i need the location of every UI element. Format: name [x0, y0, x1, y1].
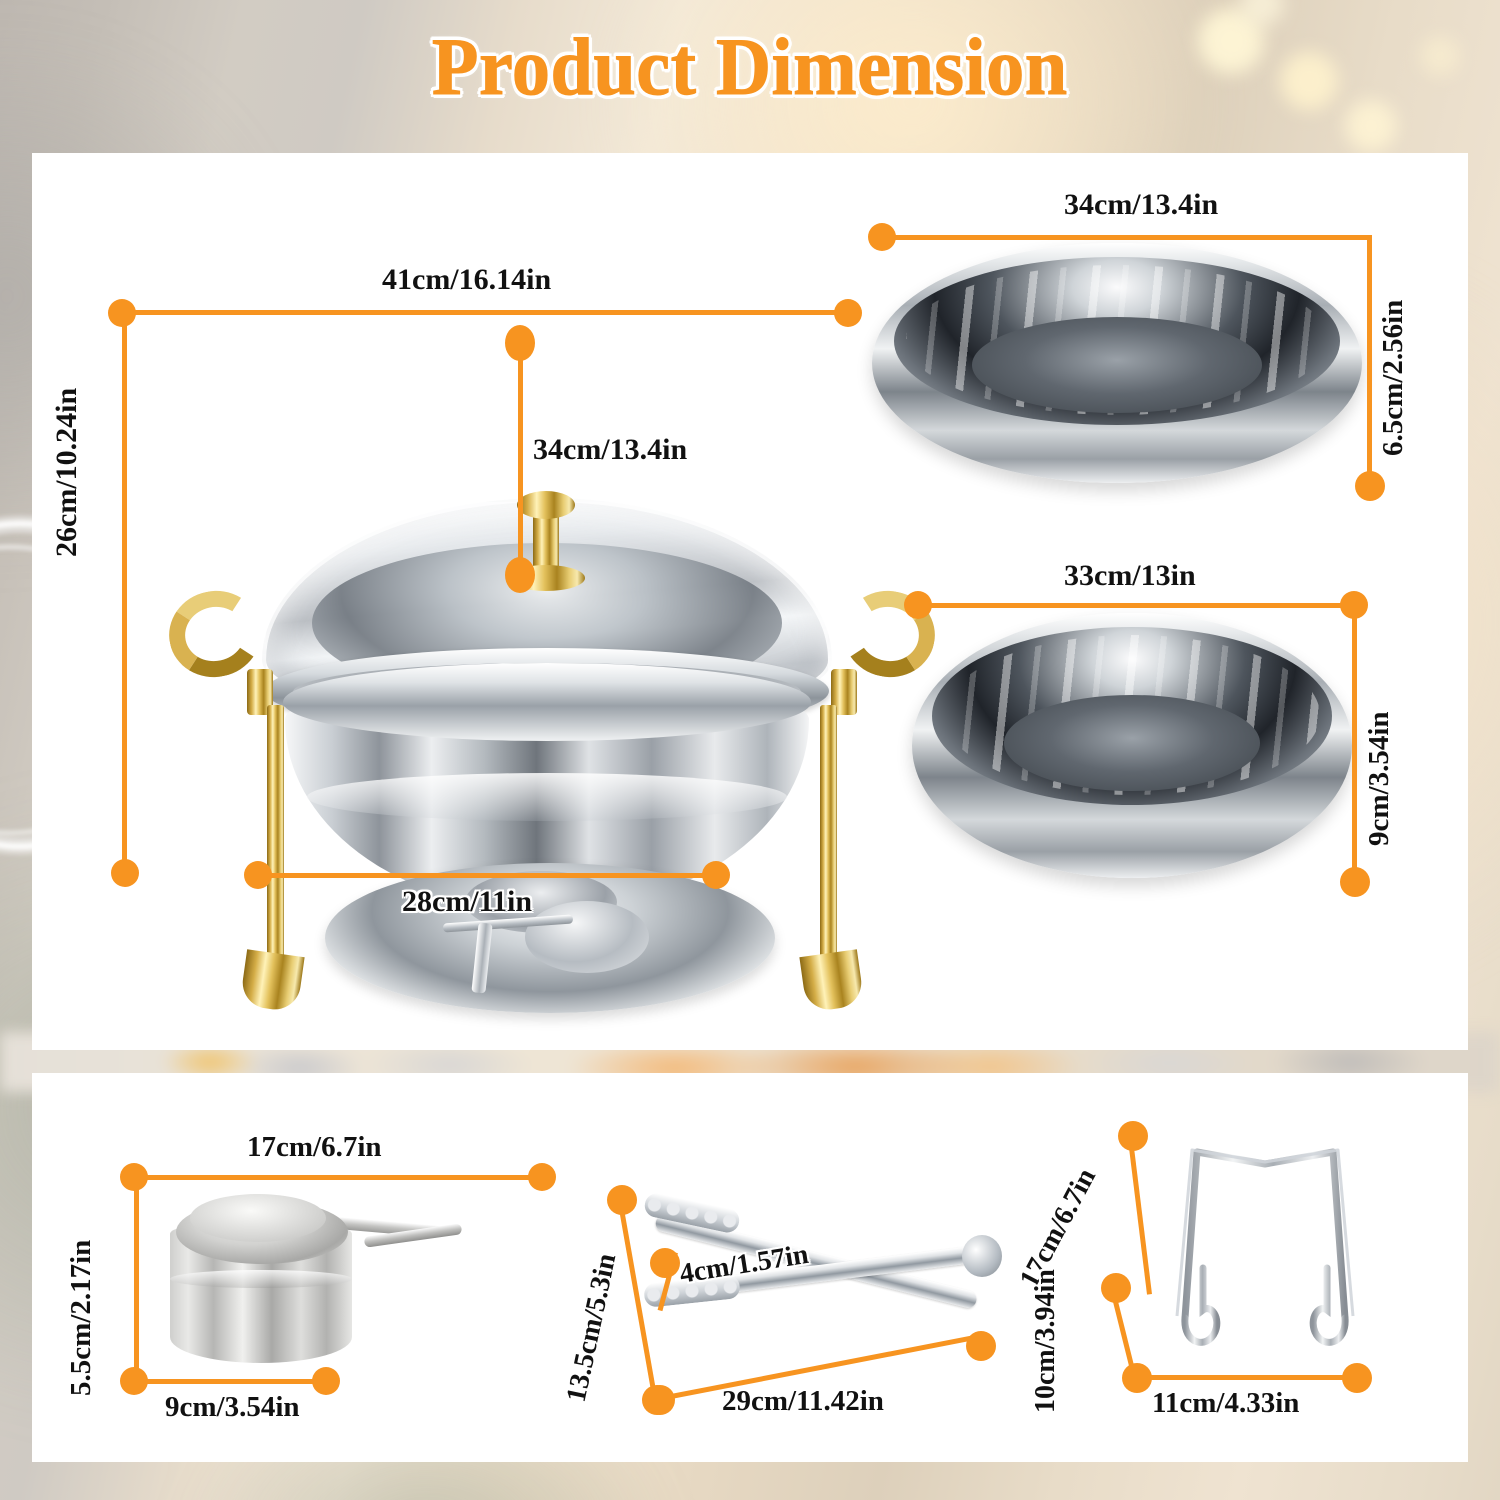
bowl-floor — [1004, 695, 1260, 791]
dim-line-chafer-width — [118, 310, 848, 315]
fuel-holder-lid-top — [190, 1194, 326, 1242]
dim-dot-chafer-height-bottom — [111, 859, 139, 887]
dim-line-large-pan-depth — [1367, 235, 1372, 485]
food-pan-rim — [283, 663, 811, 741]
food-pan-highlight-band — [307, 773, 787, 821]
dim-label-chafer-pan: 34cm/13.4in — [533, 433, 687, 467]
dim-line-fuel-diameter — [132, 1379, 324, 1384]
dim-dot-fuel-width-right — [528, 1163, 556, 1191]
dim-label-water-pan-depth: 9cm/3.54in — [1363, 711, 1396, 846]
dim-dot-water-pan-right — [1340, 591, 1368, 619]
dim-dot-large-pan-depth-bottom — [1355, 471, 1385, 501]
page-title-container: Product Dimension — [0, 14, 1500, 119]
dim-line-chafer-base — [256, 873, 716, 878]
dim-line-large-pan-diameter — [880, 235, 1370, 240]
fuel-holder-ring — [170, 1270, 352, 1288]
dim-dot-chafer-base-right — [702, 861, 730, 889]
dim-dot-wire-lower-bottom — [1122, 1363, 1152, 1393]
dim-label-large-pan-depth: 6.5cm/2.56in — [1377, 300, 1410, 456]
dim-line-chafer-height — [122, 313, 127, 873]
dim-line-chafer-pan — [518, 333, 523, 583]
dim-label-chafer-base: 28cm/11in — [402, 885, 532, 919]
wire-frame-holder-illustration — [1137, 1118, 1387, 1388]
dim-dot-chafer-pan-bottom — [505, 557, 535, 593]
dim-dot-chafer-width-left — [108, 299, 136, 327]
dim-line-wire-width — [1134, 1375, 1354, 1380]
dim-dot-water-pan-depth-bottom — [1340, 867, 1370, 897]
stand-leg-left — [267, 705, 284, 973]
dim-label-fuel-diameter: 9cm/3.54in — [165, 1391, 300, 1424]
dim-dot-tongs-opening-top — [607, 1185, 637, 1215]
dim-dot-wire-width-right — [1342, 1363, 1372, 1393]
stand-leg-right — [820, 705, 837, 973]
dim-dot-tongs-tip-top — [650, 1248, 680, 1278]
stand-foot-left — [239, 949, 304, 1013]
accessories-panel: 17cm/6.7in 5.5cm/2.17in 9cm/3.54in 13.5c… — [32, 1073, 1468, 1462]
dim-line-fuel-total-width — [132, 1175, 542, 1180]
dim-dot-chafer-pan-top — [505, 325, 535, 361]
dim-label-wire-lower: 10cm/3.94in — [1030, 1269, 1062, 1413]
dim-label-wire-width: 11cm/4.33in — [1152, 1387, 1299, 1420]
dim-label-large-pan-diameter: 34cm/13.4in — [1064, 188, 1218, 222]
water-pan-illustration — [912, 613, 1352, 878]
dim-dot-wire-mid — [1101, 1273, 1131, 1303]
page-title: Product Dimension — [432, 20, 1068, 114]
stand-foot-right — [799, 949, 864, 1013]
fuel-holder-illustration — [152, 1178, 472, 1393]
dim-line-water-pan-depth — [1352, 603, 1357, 881]
dim-dot-chafer-width-right — [834, 299, 862, 327]
dim-dot-fuel-diameter-left — [120, 1367, 148, 1395]
wire-frame-svg — [1137, 1118, 1387, 1388]
dim-dot-water-pan-left — [904, 591, 932, 619]
pan-floor — [972, 317, 1262, 413]
dim-label-tongs-opening: 13.5cm/5.3in — [561, 1251, 624, 1405]
dim-dot-wire-upper-top — [1118, 1121, 1148, 1151]
dim-dot-chafer-base-left — [244, 861, 272, 889]
dim-dot-fuel-diameter-right — [312, 1367, 340, 1395]
dim-label-fuel-height: 5.5cm/2.17in — [65, 1240, 98, 1396]
dim-label-tongs-length: 29cm/11.42in — [722, 1385, 884, 1418]
dim-label-chafer-height: 26cm/10.24in — [50, 388, 84, 557]
dim-line-fuel-height — [134, 1177, 139, 1381]
tongs-hinge — [962, 1235, 1002, 1277]
lid-knob-top — [517, 491, 575, 519]
dim-dot-tongs-tip-bottom — [645, 1385, 675, 1415]
dim-dot-large-pan-left — [868, 223, 896, 251]
dim-line-water-pan-diameter — [916, 603, 1354, 608]
dim-label-water-pan-diameter: 33cm/13in — [1064, 559, 1196, 593]
chafing-dish-illustration — [207, 473, 897, 1033]
dim-label-fuel-total-width: 17cm/6.7in — [247, 1131, 382, 1164]
main-products-panel: 41cm/16.14in 26cm/10.24in 34cm/13.4in 28… — [32, 153, 1468, 1050]
dim-dot-tongs-length-right — [966, 1331, 996, 1361]
fuel-cup-lid — [525, 901, 649, 973]
large-food-pan-illustration — [872, 243, 1362, 483]
dim-dot-fuel-width-left — [120, 1163, 148, 1191]
dim-label-chafer-width: 41cm/16.14in — [382, 263, 551, 297]
